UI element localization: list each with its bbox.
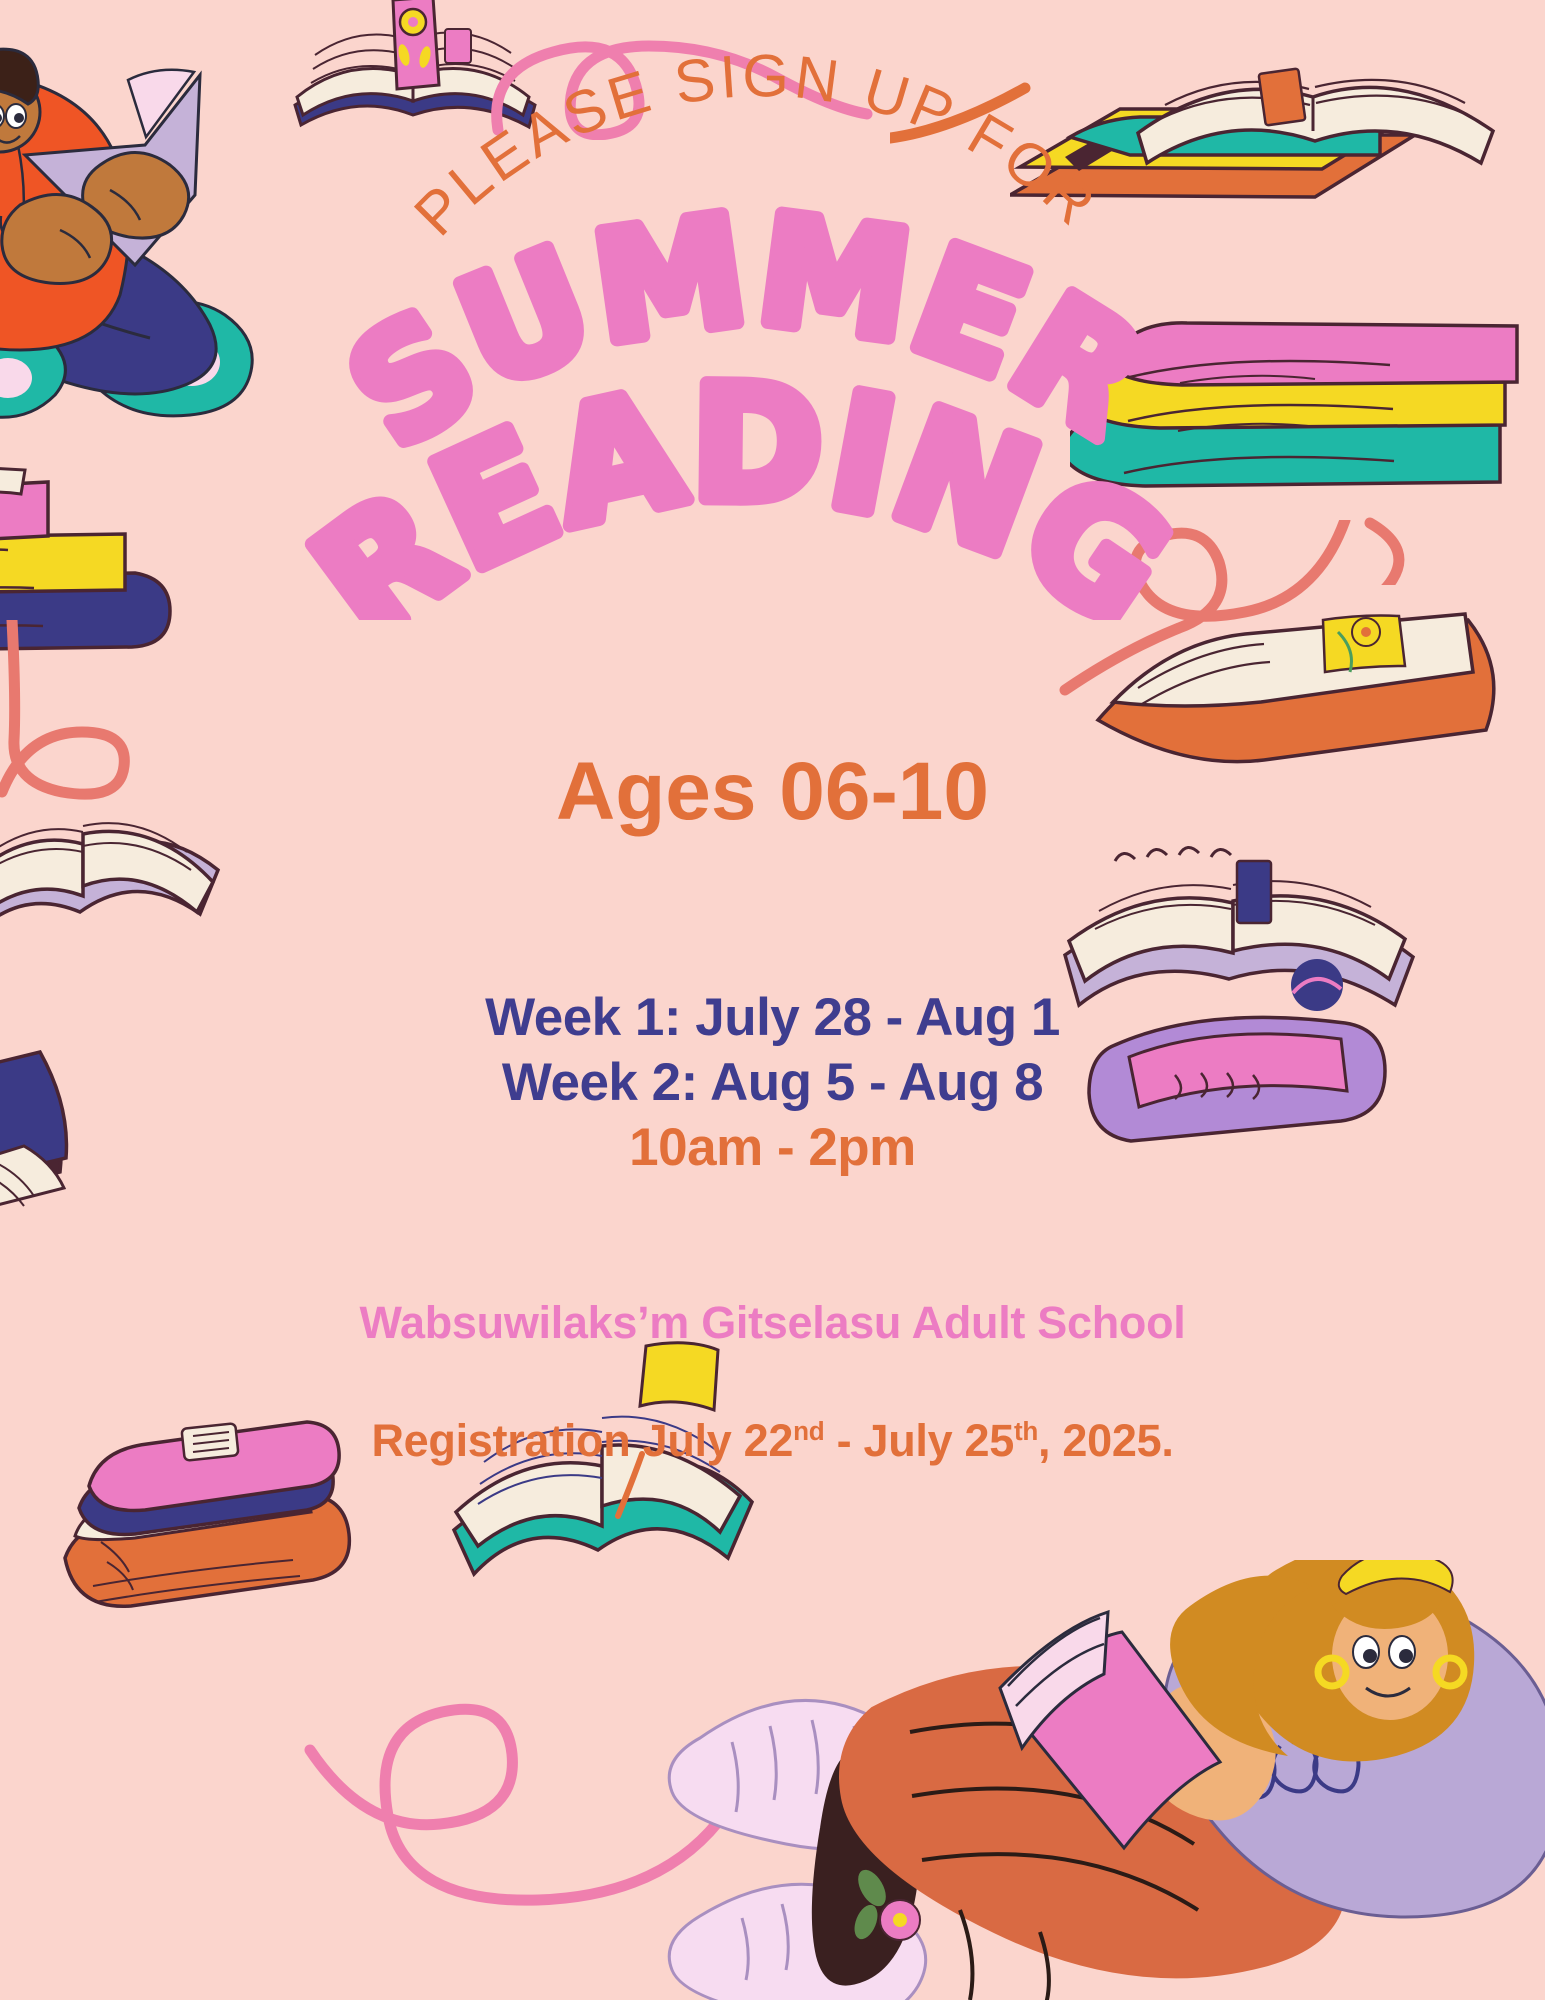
summer-reading-poster: PLEASE SIGN UP FOR SUMMER READING Ages 0… <box>0 0 1545 2000</box>
registration-suffix: , 2025. <box>1038 1415 1174 1466</box>
headline-arc: PLEASE SIGN UP FOR SUMMER READING <box>0 0 1545 620</box>
pink-squiggle-loop-illustration <box>300 1580 780 1910</box>
week-1-line: Week 1: July 28 - Aug 1 <box>0 985 1545 1050</box>
headline-kicker: PLEASE SIGN UP FOR <box>401 42 1110 248</box>
registration-prefix: Registration July 22 <box>371 1415 793 1466</box>
registration-sup-th: th <box>1014 1416 1038 1446</box>
week-2-line: Week 2: Aug 5 - Aug 8 <box>0 1050 1545 1115</box>
venue-name: Wabsuwilaks’m Gitselasu Adult School <box>0 1297 1545 1349</box>
time-line: 10am - 2pm <box>0 1115 1545 1180</box>
registration-middle: - July 25 <box>824 1415 1014 1466</box>
registration-sup-nd: nd <box>793 1416 824 1446</box>
woman-reading-book-illustration <box>660 1560 1545 2000</box>
registration-line: Registration July 22nd - July 25th, 2025… <box>0 1415 1545 1467</box>
schedule-block: Week 1: July 28 - Aug 1 Week 2: Aug 5 - … <box>0 985 1545 1181</box>
ages-line: Ages 06-10 <box>0 745 1545 839</box>
